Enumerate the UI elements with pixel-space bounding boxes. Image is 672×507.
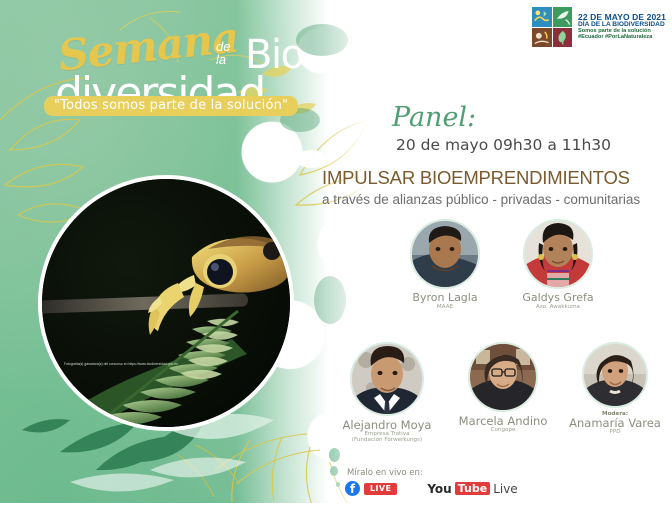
youtube-icon[interactable]: Tube bbox=[455, 482, 490, 495]
youtube-live-text[interactable]: Live bbox=[493, 482, 518, 496]
logo-cell-red bbox=[553, 28, 573, 48]
badge-line-hashtags: #Ecuador #PorLaNaturaleza bbox=[578, 35, 666, 41]
panelist-alejandro-moya: Alejandro Moya Empresa Trativa (Fundació… bbox=[332, 342, 442, 444]
panel-label: Panel: bbox=[392, 102, 476, 133]
logo-cell-green bbox=[553, 7, 573, 27]
panel-datetime: 20 de mayo 09h30 a 11h30 bbox=[396, 136, 611, 154]
logo-cell-blue bbox=[532, 7, 552, 27]
panelist-name: Galdys Grefa bbox=[505, 292, 611, 304]
panelist-galdys-grefa: Galdys Grefa Aso. Awakkuma bbox=[505, 219, 611, 310]
avatar bbox=[523, 219, 593, 289]
facebook-icon[interactable]: f bbox=[345, 481, 360, 496]
logo-cell-brown bbox=[532, 28, 552, 48]
avatar bbox=[410, 219, 480, 289]
panelist-marcela-andino: Marcela Andino Congope bbox=[450, 342, 556, 433]
moderator-anamaria-varea: Modera: Anamaría Varea PPD bbox=[562, 342, 668, 435]
panelist-name: Marcela Andino bbox=[450, 415, 556, 427]
panelist-name: Anamaría Varea bbox=[562, 417, 668, 429]
panelist-name: Byron Lagla bbox=[392, 292, 498, 304]
panelist-role: Aso. Awakkuma bbox=[505, 304, 611, 310]
biodiversity-week-poster: 22 DE MAYO DE 2021 DÍA DE LA BIODIVERSID… bbox=[0, 0, 672, 507]
panel-headline: IMPULSAR BIOEMPRENDIMIENTOS bbox=[322, 167, 630, 189]
avatar bbox=[350, 342, 424, 416]
panelist-name: Alejandro Moya bbox=[332, 419, 442, 431]
avatar bbox=[582, 342, 648, 408]
panelist-role: PPD bbox=[562, 429, 668, 435]
photo-credit: Fotografía(s) ganadora(s) del concurso e… bbox=[64, 362, 182, 367]
facebook-live-link[interactable]: f LIVE bbox=[345, 481, 397, 496]
youtube-you-text[interactable]: You bbox=[427, 482, 451, 496]
tree-frog-photo: Fotografía(s) ganadora(s) del concurso e… bbox=[38, 175, 294, 431]
panelist-role-secondary: (Fundación Forwerkungs) bbox=[332, 437, 442, 443]
title-de-la: de la bbox=[216, 40, 230, 66]
avatar bbox=[468, 342, 538, 412]
live-links-row: f LIVE You Tube Live bbox=[345, 481, 518, 496]
event-tagline: "Todos somos parte de la solución" bbox=[44, 96, 298, 116]
panel-heading: Panel: bbox=[392, 104, 476, 131]
biodiversity-quadrant-logo-icon bbox=[531, 6, 573, 48]
bottom-strip bbox=[0, 503, 672, 507]
youtube-live-link[interactable]: You Tube Live bbox=[427, 482, 517, 496]
panelist-role: Congope bbox=[450, 427, 556, 433]
facebook-live-badge[interactable]: LIVE bbox=[364, 483, 397, 495]
live-label: Míralo en vivo en: bbox=[347, 468, 423, 478]
panel-subhead: a través de alianzas público - privadas … bbox=[322, 192, 640, 207]
biodiversity-day-badge: 22 DE MAYO DE 2021 DÍA DE LA BIODIVERSID… bbox=[531, 6, 666, 48]
panelist-byron-lagla: Byron Lagla MAAE bbox=[392, 219, 498, 310]
panelist-role: MAAE bbox=[392, 304, 498, 310]
title-la: la bbox=[216, 53, 230, 66]
